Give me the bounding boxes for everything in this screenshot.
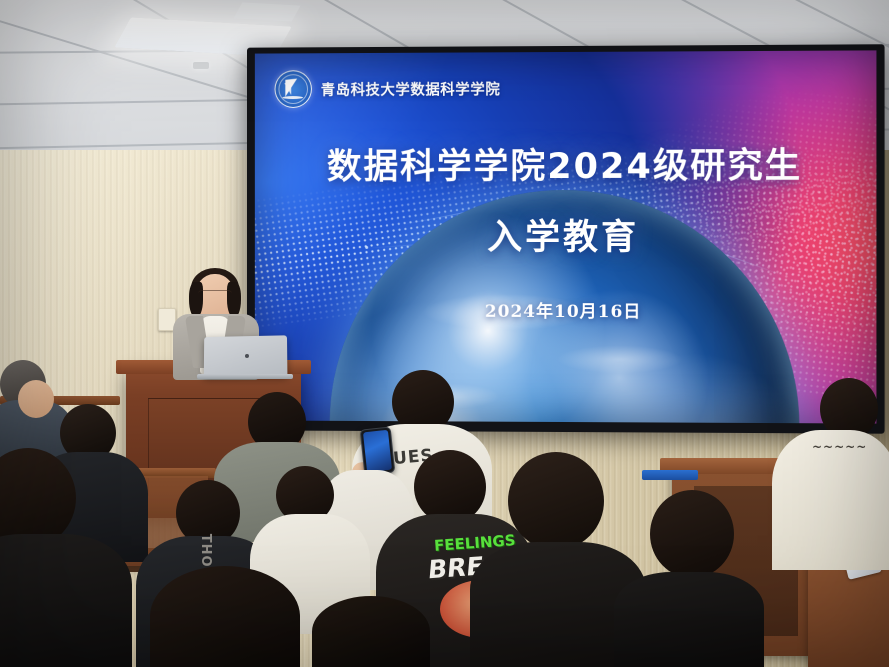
audience-torso <box>0 534 132 667</box>
lecture-hall-desk-top <box>642 470 698 480</box>
audience-head <box>650 490 734 578</box>
lecture-hall-screenshot: 青岛科技大学数据科学学院 数据科学学院2024级研究生 入学教育 2024年10… <box>0 0 889 667</box>
audience-hoodie-script: ~~~~~ <box>812 440 867 454</box>
audience-head <box>150 566 300 667</box>
presenter-laptop <box>204 335 288 376</box>
presenter-hair-left <box>189 282 203 318</box>
audience-phone-recording <box>360 427 396 476</box>
projection-screen-bezel: 青岛科技大学数据科学学院 数据科学学院2024级研究生 入学教育 2024年10… <box>247 44 885 433</box>
slide-date: 2024年10月16日 <box>255 297 877 323</box>
slide-title-line-1: 数据科学学院2024级研究生 <box>255 137 877 189</box>
presenter-hair-right <box>227 282 241 318</box>
audience-head <box>508 452 604 550</box>
audience-torso <box>614 572 764 667</box>
university-sailboat-logo-icon <box>275 70 312 108</box>
audience-head <box>414 450 486 524</box>
slide-title-line-2: 入学教育 <box>255 209 877 260</box>
ceiling-light-fixture <box>193 62 209 69</box>
audience-head <box>312 596 430 667</box>
slide-header: 青岛科技大学数据科学学院 <box>275 69 501 108</box>
phone-screen <box>363 430 392 472</box>
laptop-logo-dot <box>245 354 249 358</box>
slide-network-lines <box>255 50 877 53</box>
laptop-base <box>197 374 293 379</box>
presentation-slide: 青岛科技大学数据科学学院 数据科学学院2024级研究生 入学教育 2024年10… <box>255 50 877 423</box>
presenter-glasses <box>198 290 232 299</box>
audience-head <box>18 380 54 418</box>
slide-organization-name: 青岛科技大学数据科学学院 <box>321 78 501 100</box>
ceiling-led-panel-secondary <box>233 2 300 21</box>
